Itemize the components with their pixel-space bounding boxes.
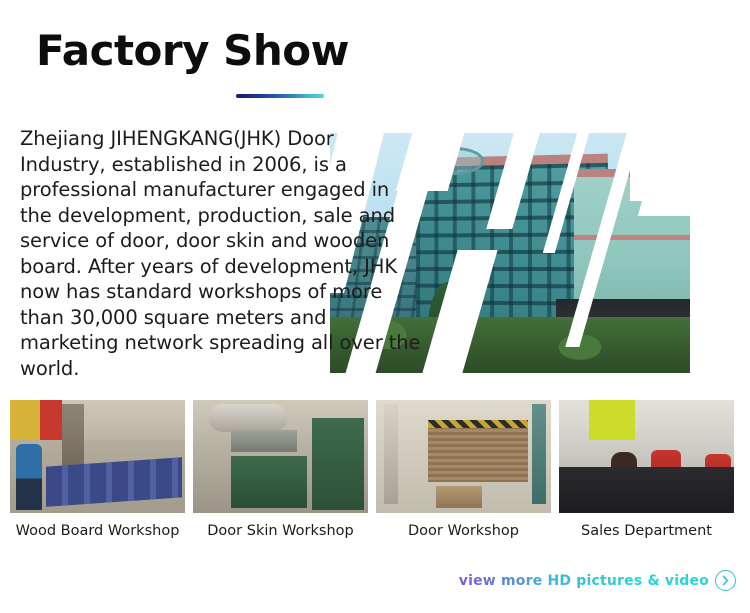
workshop-thumbnail-row: Wood Board Workshop Door Skin Workshop D… — [10, 400, 740, 539]
rooftop-vent — [426, 147, 484, 175]
thumbnail-item[interactable]: Wood Board Workshop — [10, 400, 185, 539]
photo-detail — [651, 450, 681, 490]
wood-board-workshop-photo[interactable] — [10, 400, 185, 513]
photo-detail — [593, 482, 627, 508]
thumbnail-caption: Door Skin Workshop — [193, 523, 368, 539]
door-workshop-photo[interactable] — [376, 400, 551, 513]
photo-detail — [10, 400, 185, 440]
sales-department-photo[interactable] — [559, 400, 734, 513]
thumbnail-caption: Wood Board Workshop — [10, 523, 185, 539]
thumbnail-item[interactable]: Door Skin Workshop — [193, 400, 368, 539]
photo-detail — [231, 456, 307, 508]
thumbnail-item[interactable]: Sales Department — [559, 400, 734, 539]
view-more-link[interactable]: view more HD pictures & video — [459, 570, 736, 591]
photo-detail — [611, 452, 637, 496]
title-underline-rule — [236, 94, 324, 98]
thumbnail-caption: Sales Department — [559, 523, 734, 539]
company-intro-paragraph: Zhejiang JIHENGKANG(JHK) Door Industry, … — [20, 126, 424, 381]
thumbnail-item[interactable]: Door Workshop — [376, 400, 551, 539]
page-title: Factory Show — [36, 28, 349, 74]
view-more-label: view more HD pictures & video — [459, 573, 709, 589]
chevron-right-circle-icon[interactable] — [715, 570, 736, 591]
photo-detail — [384, 404, 398, 504]
thumbnail-caption: Door Workshop — [376, 523, 551, 539]
photo-detail — [62, 404, 84, 478]
photo-detail — [532, 404, 546, 504]
door-skin-workshop-photo[interactable] — [193, 400, 368, 513]
photo-detail — [231, 430, 297, 452]
photo-detail — [705, 454, 731, 492]
photo-detail — [436, 486, 482, 508]
